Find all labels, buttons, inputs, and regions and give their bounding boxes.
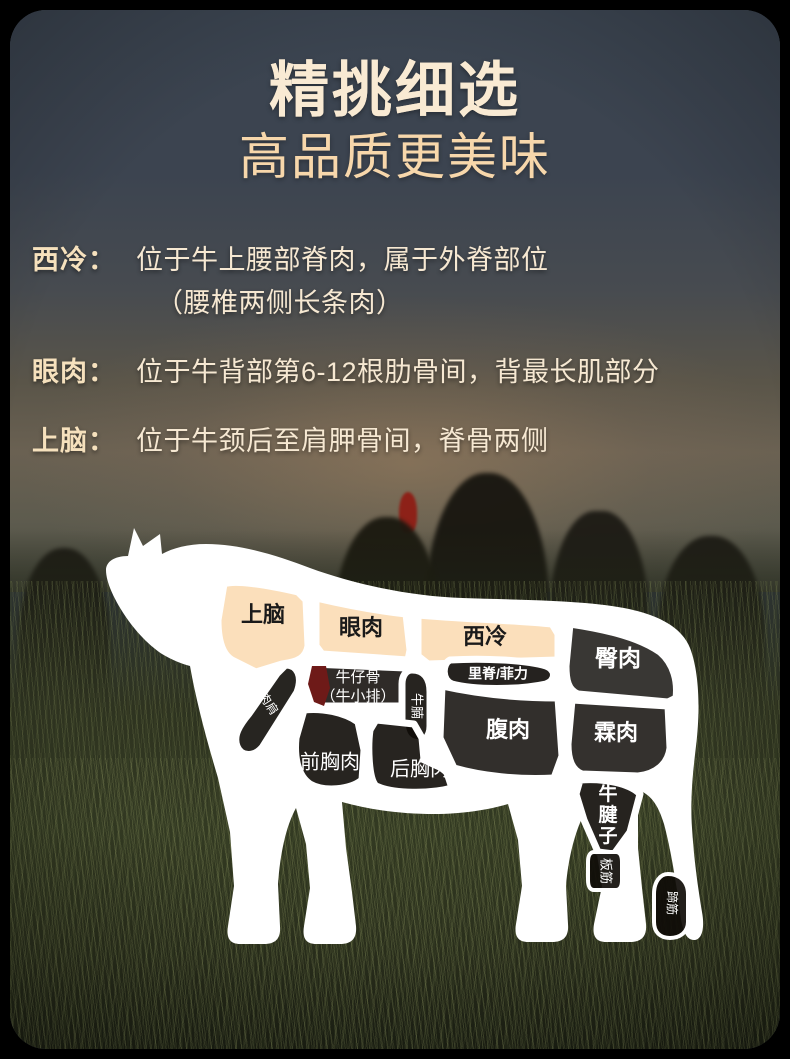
description-value: 位于牛上腰部脊肉，属于外脊部位	[136, 238, 772, 277]
cut-label-niujianzi-1: 牛	[598, 782, 617, 805]
page-title: 精挑细选	[10, 10, 780, 121]
poster-card: 精挑细选 高品质更美味 西冷： 位于牛上腰部脊肉，属于外脊部位 （腰椎两侧长条肉…	[10, 10, 780, 1049]
cut-label-shangnao: 上脑	[241, 602, 285, 627]
cut-label-qianxiongrou: 前胸肉	[300, 750, 360, 773]
beef-cuts-diagram: 上脑 眼肉 西冷 臀肉 牛仔骨 （牛小排） 里脊/菲力 肉肩 牛腩 腹肉 霖肉 …	[10, 488, 780, 988]
cut-label-linrou: 霖肉	[594, 720, 638, 745]
cut-label-niunan: 牛腩	[410, 693, 425, 719]
page-subtitle: 高品质更美味	[10, 131, 780, 184]
description-value: 位于牛颈后至肩胛骨间，脊骨两侧	[136, 419, 772, 458]
description-key: 上脑：	[32, 419, 136, 458]
cut-label-niuzaigu-alt: （牛小排）	[320, 688, 395, 705]
cut-region-shangnao[interactable]	[218, 582, 308, 672]
description-value: 位于牛背部第6-12根肋骨间，背最长肌部分	[136, 350, 772, 389]
cut-label-xileng: 西冷	[463, 624, 507, 649]
description-key: 眼肉：	[32, 350, 136, 389]
description-row-shangnao: 上脑： 位于牛颈后至肩胛骨间，脊骨两侧	[32, 419, 772, 458]
cut-label-tijin: 蹄筋	[665, 891, 680, 915]
cut-label-houxiongrou: 后胸肉	[390, 757, 450, 780]
cut-label-furou: 腹肉	[486, 717, 530, 742]
cut-descriptions: 西冷： 位于牛上腰部脊肉，属于外脊部位 （腰椎两侧长条肉） 眼肉： 位于牛背部第…	[32, 238, 772, 464]
cut-label-niujianzi-2: 腱	[598, 804, 617, 826]
cut-label-yanrou: 眼肉	[339, 615, 383, 640]
description-key: 西冷：	[32, 238, 136, 277]
cut-region-qianxiongrou[interactable]	[296, 710, 364, 789]
description-row-xileng: 西冷： 位于牛上腰部脊肉，属于外脊部位	[32, 238, 772, 277]
cut-label-lijifeili: 里脊/菲力	[468, 666, 528, 682]
description-row-yanrou: 眼肉： 位于牛背部第6-12根肋骨间，背最长肌部分	[32, 350, 772, 389]
description-continuation: （腰椎两侧长条肉）	[156, 281, 772, 320]
cut-label-banjin: 板筋	[599, 858, 614, 884]
cut-label-niujianzi-3: 子	[598, 826, 617, 847]
header: 精挑细选 高品质更美味	[10, 10, 780, 184]
cut-label-tunrou: 臀肉	[595, 645, 641, 671]
cut-label-banjian: 板腱	[264, 741, 293, 757]
cut-label-niuzaigu: 牛仔骨	[335, 669, 380, 686]
